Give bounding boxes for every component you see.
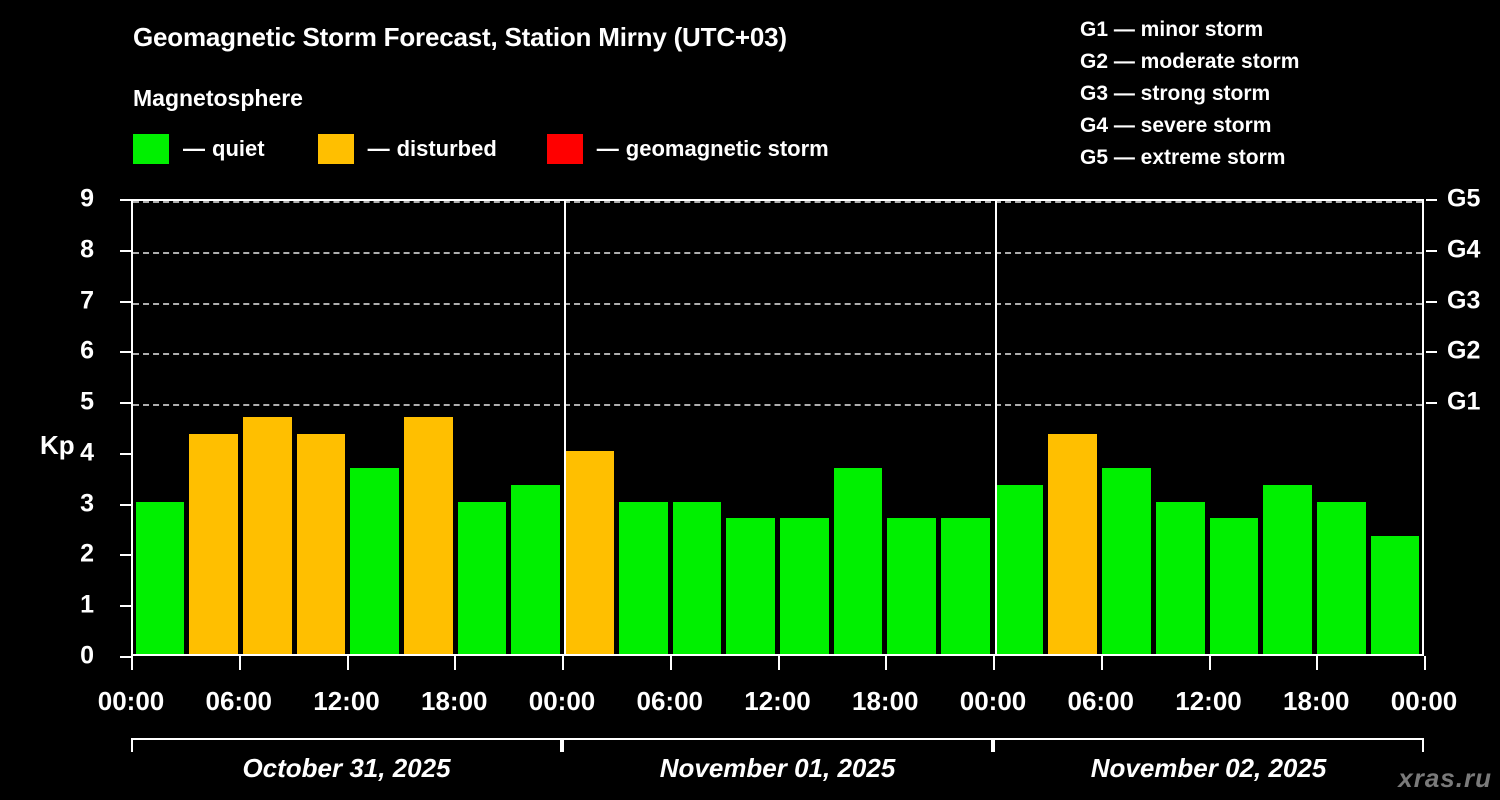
bar[interactable] <box>887 518 936 654</box>
bar[interactable] <box>404 417 453 654</box>
y-tick-mark <box>120 605 131 607</box>
g-tick-mark <box>1426 301 1437 303</box>
legend-title: Magnetosphere <box>133 85 303 112</box>
y-tick-mark <box>120 250 131 252</box>
bar-slot <box>348 201 402 654</box>
bar-slot <box>1368 201 1422 654</box>
y-tick-label: 1 <box>54 591 94 620</box>
y-tick-label: 2 <box>54 540 94 569</box>
date-label: November 02, 2025 <box>1091 753 1327 784</box>
y-tick-label: 6 <box>54 337 94 366</box>
bar-slot <box>885 201 939 654</box>
y-tick-label: 4 <box>54 438 94 467</box>
g-scale-line-g4: G4 — severe storm <box>1080 110 1299 142</box>
date-bracket <box>562 738 993 752</box>
g-scale-line-g1: G1 — minor storm <box>1080 14 1299 46</box>
x-tick-mark <box>670 656 672 670</box>
x-tick-label: 00:00 <box>98 686 165 717</box>
date-bracket <box>993 738 1424 752</box>
watermark: xras.ru <box>1398 763 1492 794</box>
x-tick-mark <box>885 656 887 670</box>
bar-slot <box>455 201 509 654</box>
bar-slot <box>1314 201 1368 654</box>
y-tick-label: 3 <box>54 489 94 518</box>
g-tick-label: G2 <box>1447 337 1480 366</box>
x-tick-mark <box>239 656 241 670</box>
y-tick-label: 0 <box>54 642 94 671</box>
x-tick-mark <box>993 656 995 670</box>
bar[interactable] <box>1156 502 1205 654</box>
x-tick-label: 12:00 <box>744 686 811 717</box>
bar[interactable] <box>726 518 775 654</box>
bar[interactable] <box>941 518 990 654</box>
legend-item-quiet: — quiet <box>133 134 265 164</box>
x-tick-label: 18:00 <box>421 686 488 717</box>
green-square-icon <box>133 134 169 164</box>
x-tick-mark <box>347 656 349 670</box>
x-tick-mark <box>1316 656 1318 670</box>
bar[interactable] <box>458 502 507 654</box>
bar[interactable] <box>136 502 185 654</box>
plot-area <box>131 199 1424 656</box>
x-tick-label: 06:00 <box>1068 686 1135 717</box>
page-title: Geomagnetic Storm Forecast, Station Mirn… <box>133 22 787 53</box>
x-tick-label: 18:00 <box>852 686 919 717</box>
bar[interactable] <box>1048 434 1097 654</box>
bar[interactable] <box>834 468 883 654</box>
y-tick-mark <box>120 656 131 658</box>
g-scale-line-g3: G3 — strong storm <box>1080 78 1299 110</box>
y-tick-label: 9 <box>54 185 94 214</box>
y-tick-mark <box>120 199 131 201</box>
legend-label-disturbed: disturbed <box>397 136 497 162</box>
bar-slot <box>402 201 456 654</box>
bar-slot <box>724 201 778 654</box>
x-tick-mark <box>454 656 456 670</box>
bar-slot <box>563 201 617 654</box>
bar[interactable] <box>350 468 399 654</box>
x-tick-label: 00:00 <box>960 686 1027 717</box>
bar[interactable] <box>1371 536 1420 654</box>
orange-square-icon <box>318 134 354 164</box>
legend-dash: — <box>183 138 205 160</box>
y-tick-mark <box>120 504 131 506</box>
date-bracket <box>131 738 562 752</box>
x-tick-label: 00:00 <box>529 686 596 717</box>
g-tick-label: G1 <box>1447 388 1480 417</box>
x-tick-label: 18:00 <box>1283 686 1350 717</box>
legend-item-disturbed: — disturbed <box>318 134 497 164</box>
x-tick-label: 06:00 <box>206 686 273 717</box>
x-tick-mark <box>131 656 133 670</box>
g-tick-mark <box>1426 351 1437 353</box>
x-tick-mark <box>778 656 780 670</box>
bar[interactable] <box>619 502 668 654</box>
bar-slot <box>1100 201 1154 654</box>
legend-dash: — <box>597 138 619 160</box>
day-separator <box>564 201 566 654</box>
y-tick-label: 8 <box>54 235 94 264</box>
g-tick-mark <box>1426 250 1437 252</box>
date-label: October 31, 2025 <box>242 753 450 784</box>
bar-slot <box>777 201 831 654</box>
bar[interactable] <box>1210 518 1259 654</box>
bar-series <box>133 201 1422 654</box>
bar-slot <box>187 201 241 654</box>
legend-dash: — <box>368 138 390 160</box>
bar-slot <box>1046 201 1100 654</box>
day-separator <box>995 201 997 654</box>
bar[interactable] <box>673 502 722 654</box>
g-scale-line-g5: G5 — extreme storm <box>1080 142 1299 174</box>
bar[interactable] <box>1263 485 1312 654</box>
y-tick-mark <box>120 402 131 404</box>
y-tick-mark <box>120 554 131 556</box>
bar[interactable] <box>511 485 560 654</box>
g-tick-mark <box>1426 402 1437 404</box>
y-tick-mark <box>120 453 131 455</box>
y-tick-label: 7 <box>54 286 94 315</box>
bar-slot <box>1153 201 1207 654</box>
bar[interactable] <box>189 434 238 654</box>
legend-label-quiet: quiet <box>212 136 265 162</box>
bar-slot <box>1207 201 1261 654</box>
bar-slot <box>509 201 563 654</box>
bar-slot <box>670 201 724 654</box>
bar-slot <box>939 201 993 654</box>
bar[interactable] <box>1102 468 1151 654</box>
x-tick-label: 12:00 <box>1175 686 1242 717</box>
legend-item-storm: — geomagnetic storm <box>547 134 829 164</box>
y-tick-label: 5 <box>54 388 94 417</box>
g-tick-label: G3 <box>1447 286 1480 315</box>
x-tick-label: 00:00 <box>1391 686 1458 717</box>
bar-slot <box>992 201 1046 654</box>
bar-slot <box>616 201 670 654</box>
g-scale-legend: G1 — minor storm G2 — moderate storm G3 … <box>1080 14 1299 174</box>
bar[interactable] <box>297 434 346 654</box>
bar-slot <box>294 201 348 654</box>
bar[interactable] <box>995 485 1044 654</box>
bar[interactable] <box>565 451 614 654</box>
bar[interactable] <box>780 518 829 654</box>
red-square-icon <box>547 134 583 164</box>
g-tick-label: G4 <box>1447 235 1480 264</box>
y-tick-mark <box>120 351 131 353</box>
bar-slot <box>133 201 187 654</box>
x-tick-mark <box>1101 656 1103 670</box>
y-tick-mark <box>120 301 131 303</box>
legend-label-storm: geomagnetic storm <box>626 136 829 162</box>
legend: — quiet — disturbed — geomagnetic storm <box>133 132 829 166</box>
g-tick-label: G5 <box>1447 185 1480 214</box>
bar-slot <box>240 201 294 654</box>
x-tick-mark <box>1424 656 1426 670</box>
x-tick-mark <box>562 656 564 670</box>
chart-page: Geomagnetic Storm Forecast, Station Mirn… <box>0 0 1500 800</box>
g-tick-mark <box>1426 199 1437 201</box>
bar[interactable] <box>1317 502 1366 654</box>
date-label: November 01, 2025 <box>660 753 896 784</box>
x-tick-label: 12:00 <box>313 686 380 717</box>
bar-slot <box>831 201 885 654</box>
x-tick-label: 06:00 <box>637 686 704 717</box>
g-scale-line-g2: G2 — moderate storm <box>1080 46 1299 78</box>
x-tick-mark <box>1209 656 1211 670</box>
bar-slot <box>1261 201 1315 654</box>
bar[interactable] <box>243 417 292 654</box>
